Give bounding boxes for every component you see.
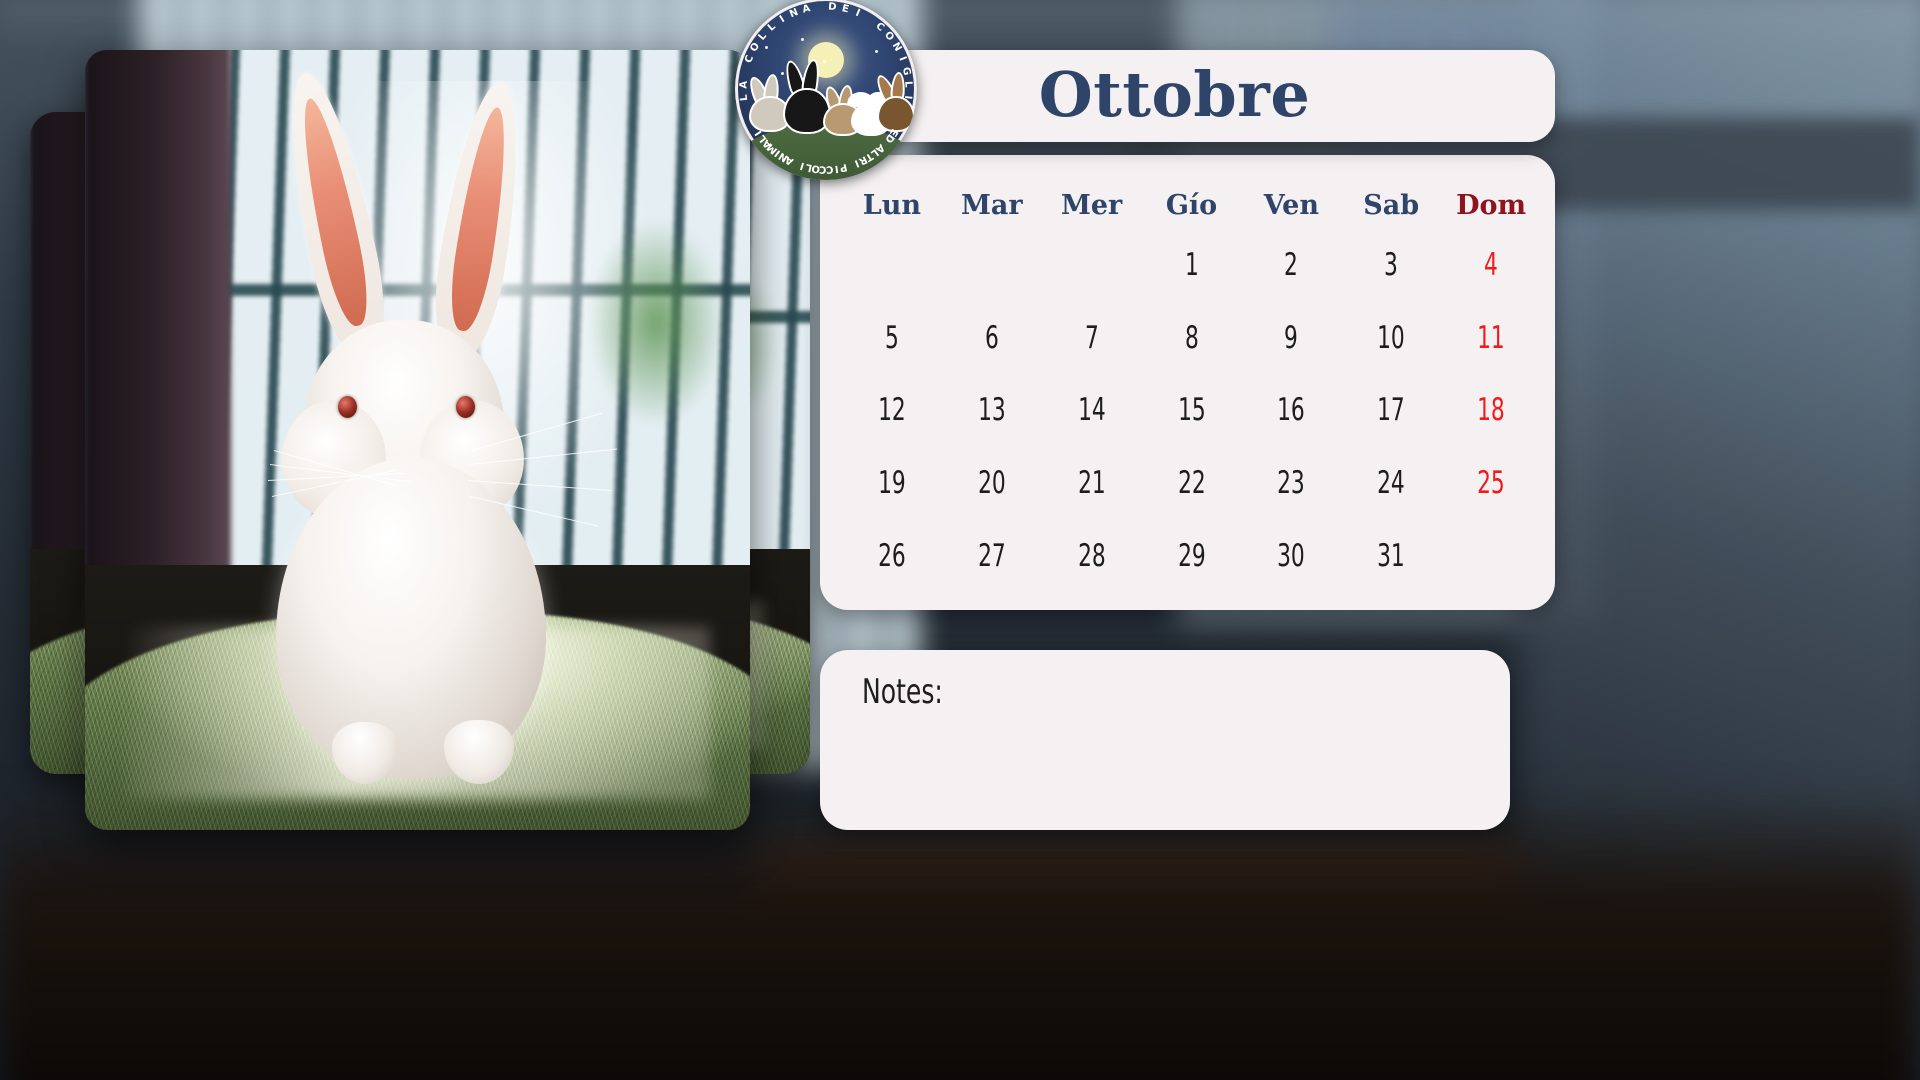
logo-text-char: I [854, 8, 862, 20]
day-cell-13[interactable]: 13 [953, 374, 1031, 447]
day-cell-empty [1053, 229, 1131, 302]
logo-text-char: I [896, 55, 908, 63]
day-cell-empty [853, 229, 931, 302]
day-cell-26[interactable]: 26 [853, 519, 931, 592]
calendar-card: LunMarMerGíoVenSabDom1234567891011121314… [820, 155, 1555, 610]
calendar-grid: LunMarMerGíoVenSabDom1234567891011121314… [842, 181, 1541, 592]
logo-text-char [740, 68, 752, 74]
day-cell-20[interactable]: 20 [953, 447, 1031, 520]
logo-text-char: C [873, 21, 886, 34]
day-cell-empty [953, 229, 1031, 302]
logo-text-char: L [902, 81, 913, 88]
day-cell-1[interactable]: 1 [1153, 229, 1231, 302]
day-cell-29[interactable]: 29 [1153, 519, 1231, 592]
weekday-header-gío: Gío [1142, 181, 1242, 229]
weekday-header-ven: Ven [1241, 181, 1341, 229]
day-cell-15[interactable]: 15 [1153, 374, 1231, 447]
logo-text-char: I [902, 95, 913, 100]
la-collina-dei-conigli-logo[interactable]: LA COLLINA DEI CONIGLIED ALTRI PICCOLI A… [735, 0, 917, 180]
logo-text-char [817, 2, 822, 13]
page-title: Ottobre [820, 58, 1529, 131]
day-cell-24[interactable]: 24 [1352, 447, 1430, 520]
weekday-header-dom: Dom [1441, 181, 1541, 229]
day-cell-22[interactable]: 22 [1153, 447, 1231, 520]
day-cell-9[interactable]: 9 [1252, 302, 1330, 375]
logo-text-char: D [828, 1, 838, 13]
day-cell-27[interactable]: 27 [953, 519, 1031, 592]
weekday-header-mer: Mer [1042, 181, 1142, 229]
logo-text-char: N [890, 41, 904, 54]
day-cell-18[interactable]: 18 [1452, 374, 1530, 447]
day-cell-21[interactable]: 21 [1053, 447, 1131, 520]
day-cell-16[interactable]: 16 [1252, 374, 1330, 447]
day-cell-2[interactable]: 2 [1252, 229, 1330, 302]
logo-text-char: L [757, 30, 770, 42]
day-cell-7[interactable]: 7 [1053, 302, 1131, 375]
logo-text-char: L [739, 94, 751, 102]
rabbit-primary [260, 70, 630, 790]
day-cell-11[interactable]: 11 [1452, 302, 1530, 375]
logo-text-char: C [743, 53, 756, 64]
logo-text-char: I [778, 14, 787, 26]
logo-text-char: O [748, 41, 762, 54]
logo-text-char [865, 14, 874, 25]
notes-card[interactable]: Notes: [820, 650, 1510, 830]
day-cell-30[interactable]: 30 [1252, 519, 1330, 592]
day-cell-19[interactable]: 19 [853, 447, 931, 520]
logo-text-char: A [801, 3, 812, 16]
day-cell-8[interactable]: 8 [1153, 302, 1231, 375]
weekday-header-lun: Lun [842, 181, 942, 229]
notes-label: Notes: [862, 672, 943, 712]
day-cell-12[interactable]: 12 [853, 374, 931, 447]
logo-text-char: A [738, 80, 749, 89]
photo-front-layer [85, 50, 750, 830]
day-cell-31[interactable]: 31 [1352, 519, 1430, 592]
logo-text-char: G [900, 66, 913, 77]
day-cell-28[interactable]: 28 [1053, 519, 1131, 592]
day-cell-17[interactable]: 17 [1352, 374, 1430, 447]
logo-text-char: O [882, 30, 896, 44]
logo-text-char: L [766, 21, 778, 34]
day-cell-empty [1452, 519, 1530, 592]
logo-curved-text: LA COLLINA DEI CONIGLIED ALTRI PICCOLI A… [735, 0, 917, 180]
day-cell-5[interactable]: 5 [853, 302, 931, 375]
day-cell-6[interactable]: 6 [953, 302, 1031, 375]
day-cell-3[interactable]: 3 [1352, 229, 1430, 302]
day-cell-23[interactable]: 23 [1252, 447, 1330, 520]
day-cell-4[interactable]: 4 [1452, 229, 1530, 302]
logo-text-char: N [788, 7, 800, 21]
month-title-card: Ottobre [820, 50, 1555, 142]
day-cell-14[interactable]: 14 [1053, 374, 1131, 447]
logo-text-char: E [841, 3, 851, 15]
background-floor [0, 790, 1920, 1080]
weekday-header-mar: Mar [942, 181, 1042, 229]
day-cell-25[interactable]: 25 [1452, 447, 1530, 520]
weekday-header-sab: Sab [1341, 181, 1441, 229]
day-cell-10[interactable]: 10 [1352, 302, 1430, 375]
